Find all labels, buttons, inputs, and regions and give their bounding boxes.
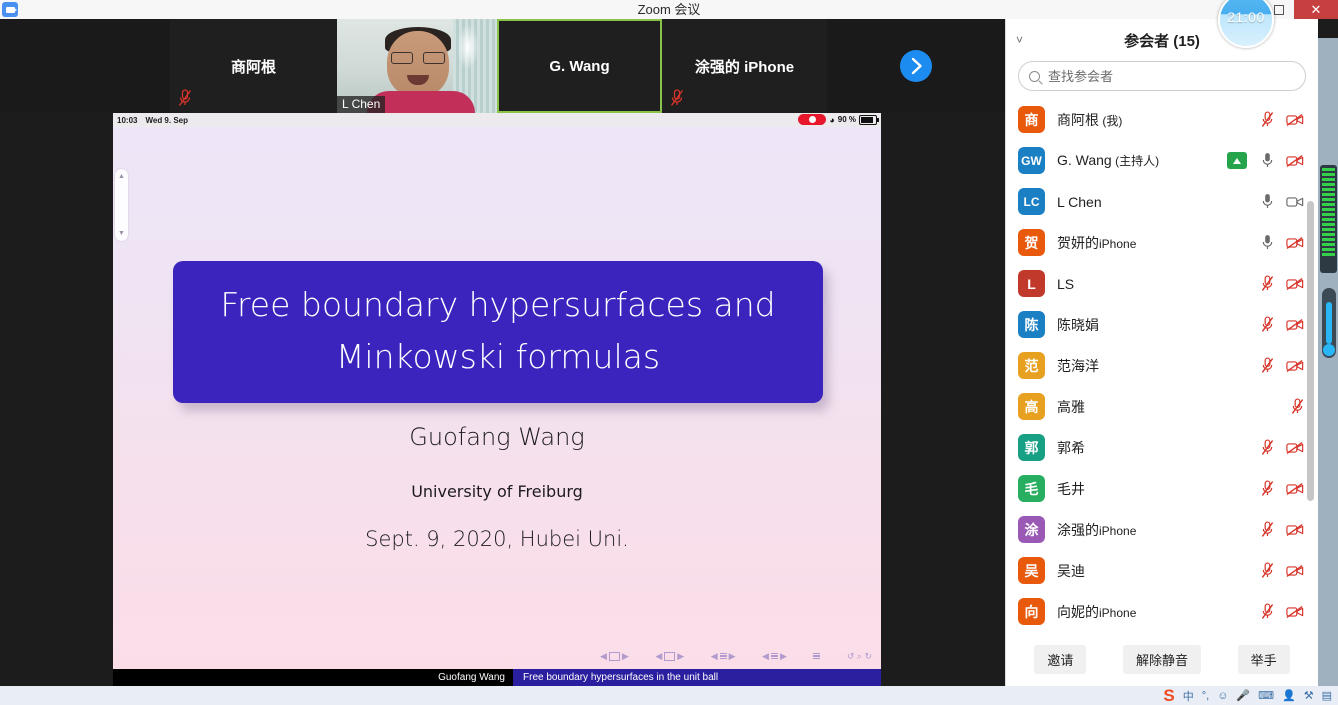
participant-name-suffix: (主持人) (1112, 154, 1159, 168)
beamer-footer-title: Free boundary hypersurfaces in the unit … (513, 669, 881, 686)
mic-on-icon[interactable] (1261, 152, 1274, 169)
avatar: 陈 (1018, 311, 1045, 338)
clock-time: 21:00 (1227, 9, 1265, 25)
participant-status-icons (1227, 152, 1304, 169)
window-titlebar: Zoom 会议 ✕ (0, 0, 1338, 20)
ipad-clock: 10:03 (117, 116, 137, 125)
presentation-slide: ▲ ▼ Free boundary hypersurfaces and Mink… (113, 127, 881, 686)
search-input[interactable] (1046, 68, 1295, 85)
participant-name-main: L Chen (1057, 194, 1102, 210)
participant-row[interactable]: GWG. Wang (主持人) (1006, 140, 1318, 181)
participant-name-main: 贺妍的 (1057, 235, 1099, 251)
slide-title-line-1: Free boundary hypersurfaces and (183, 279, 813, 331)
zoom-meeting-window: 商阿根 L Chen G. Wang (0, 19, 1338, 686)
participant-name: 范海洋 (1057, 356, 1261, 376)
mic-off-icon[interactable] (1261, 480, 1274, 497)
participants-search-box[interactable] (1018, 61, 1306, 91)
participant-name-main: 高雅 (1057, 399, 1085, 415)
shared-screen-content: 10:03 Wed 9. Sep ◕ 90 % ▲ ▼ Free boundar… (113, 113, 881, 686)
camera-off-icon[interactable] (1286, 318, 1304, 332)
search-icon (1029, 71, 1040, 82)
mic-off-icon[interactable] (1261, 521, 1274, 538)
scroll-down-arrow[interactable]: ▼ (118, 230, 125, 237)
participant-status-icons (1261, 193, 1304, 210)
cpu-meter-gadget-icon (1320, 165, 1337, 273)
scroll-up-arrow[interactable]: ▲ (118, 173, 125, 180)
participant-status-icons (1261, 234, 1304, 251)
unmute-button[interactable]: 解除静音 (1123, 645, 1201, 674)
next-page-arrow-icon[interactable] (899, 49, 933, 83)
soft-keyboard-icon[interactable]: ⌨ (1258, 689, 1274, 702)
participant-name: 毛井 (1057, 479, 1261, 499)
chevron-down-icon[interactable]: ˅ (1016, 33, 1023, 47)
participants-panel-title: 参会者 (15) (1006, 30, 1318, 51)
avatar: LC (1018, 188, 1045, 215)
filmstrip-next-area (827, 19, 1005, 113)
participant-name-main: 吴迪 (1057, 563, 1085, 579)
participant-name: 郭希 (1057, 438, 1261, 458)
battery-icon (859, 115, 877, 125)
avatar: L (1018, 270, 1045, 297)
screen-root: Zoom 会议 ✕ 21:00 商阿根 (0, 0, 1338, 705)
video-tile-label: G. Wang (549, 58, 609, 75)
video-tile-label: L Chen (337, 96, 385, 113)
video-feed: L Chen (337, 19, 497, 113)
participants-scrollbar[interactable] (1307, 101, 1314, 646)
camera-off-icon[interactable] (1286, 359, 1304, 373)
participant-name-main: 商阿根 (1057, 112, 1099, 128)
participant-status-icons (1261, 275, 1304, 292)
camera-on-icon[interactable] (1286, 195, 1304, 209)
avatar: 郭 (1018, 434, 1045, 461)
user-icon[interactable]: 👤 (1282, 689, 1296, 702)
camera-off-icon[interactable] (1286, 564, 1304, 578)
filmstrip-spacer (0, 19, 170, 113)
mic-off-icon[interactable] (1261, 562, 1274, 579)
participant-status-icons (1261, 316, 1304, 333)
participants-panel-footer: 邀请 解除静音 举手 (1006, 632, 1318, 686)
mic-off-icon[interactable] (1261, 111, 1274, 128)
camera-off-icon[interactable] (1286, 441, 1304, 455)
slide-author: Guofang Wang (113, 423, 881, 451)
camera-off-icon[interactable] (1286, 482, 1304, 496)
participant-name: 高雅 (1057, 397, 1291, 417)
ipad-status-right: ◕ 90 % (798, 114, 877, 125)
camera-off-icon[interactable] (1286, 605, 1304, 619)
avatar: 范 (1018, 352, 1045, 379)
punctuation-icon[interactable]: °, (1202, 690, 1209, 702)
nav-frame-group[interactable]: ◀▶ (655, 651, 684, 662)
ipad-date: Wed 9. Sep (145, 116, 188, 125)
avatar: 高 (1018, 393, 1045, 420)
video-tile-tuqiang-iphone[interactable]: 涂强的 iPhone (662, 19, 827, 113)
avatar: 商 (1018, 106, 1045, 133)
participant-status-icons (1261, 357, 1304, 374)
mic-off-icon[interactable] (1261, 357, 1274, 374)
close-button[interactable]: ✕ (1294, 0, 1338, 19)
mic-on-icon[interactable] (1261, 234, 1274, 251)
participant-name: 陈晓娟 (1057, 315, 1261, 335)
host-badge-icon (1227, 152, 1247, 169)
wifi-icon: ◕ (829, 115, 834, 125)
slide-date: Sept. 9, 2020, Hubei Uni. (113, 527, 881, 551)
participant-name-main: G. Wang (1057, 152, 1112, 168)
participant-name-suffix: iPhone (1099, 606, 1136, 620)
participant-status-icons (1261, 480, 1304, 497)
nav-section-group[interactable]: ◀▶ (762, 651, 787, 662)
participants-panel: ˅ 参会者 (15) 商商阿根 (我)GWG. Wang (主持人)LCL Ch… (1005, 19, 1318, 686)
temperature-gadget-icon (1322, 288, 1336, 358)
video-filmstrip: 商阿根 L Chen G. Wang (0, 19, 1005, 113)
participant-row[interactable]: 郭郭希 (1006, 427, 1318, 468)
mic-off-icon[interactable] (1261, 275, 1274, 292)
participants-list[interactable]: 商商阿根 (我)GWG. Wang (主持人)LCL Chen贺贺妍的iPhon… (1006, 99, 1318, 632)
emoji-icon[interactable]: ☺ (1217, 690, 1228, 702)
video-tile-lchen[interactable]: L Chen (337, 19, 497, 113)
camera-off-icon[interactable] (1286, 113, 1304, 127)
participant-name: G. Wang (主持人) (1057, 152, 1227, 169)
participant-status-icons (1261, 603, 1304, 620)
beamer-footer: Guofang Wang Free boundary hypersurfaces… (113, 669, 881, 686)
participant-name-suffix: (我) (1099, 114, 1122, 128)
mic-off-icon[interactable] (1261, 439, 1274, 456)
sogou-ime-logo[interactable]: S (1163, 687, 1174, 704)
participant-name-main: 涂强的 (1057, 522, 1099, 538)
nav-back-forward-group[interactable]: ↺ ⌕ ↻ (847, 651, 872, 662)
participant-name: 商阿根 (我) (1057, 110, 1261, 130)
slide-title-line-2: Minkowski formulas (183, 331, 813, 383)
avatar: 吴 (1018, 557, 1045, 584)
participant-name: 涂强的iPhone (1057, 520, 1261, 540)
participant-name: 贺妍的iPhone (1057, 233, 1261, 253)
participant-row[interactable]: 高高雅 (1006, 386, 1318, 427)
panel-icon[interactable]: ▤ (1322, 689, 1332, 702)
raise-hand-button[interactable]: 举手 (1238, 645, 1290, 674)
participant-name: L Chen (1057, 194, 1261, 210)
sogou-ime-toolbar[interactable]: S 中 °, ☺ 🎤 ⌨ 👤 ⚒ ▤ (1159, 686, 1336, 705)
slide-vertical-scrollbar[interactable]: ▲ ▼ (115, 169, 128, 241)
participant-row[interactable]: LCL Chen (1006, 181, 1318, 222)
avatar: 贺 (1018, 229, 1045, 256)
camera-off-icon[interactable] (1286, 236, 1304, 250)
battery-percent: 90 % (838, 115, 856, 124)
participant-row[interactable]: 向向妮的iPhone (1006, 591, 1318, 632)
camera-off-icon[interactable] (1286, 154, 1304, 168)
mic-off-icon[interactable] (1261, 603, 1274, 620)
participant-name-main: LS (1057, 276, 1074, 292)
avatar: 毛 (1018, 475, 1045, 502)
desktop-sidebar-gadget (1318, 38, 1338, 705)
camera-off-icon[interactable] (1286, 277, 1304, 291)
slide-title-box: Free boundary hypersurfaces and Minkowsk… (173, 261, 823, 403)
window-title: Zoom 会议 (0, 0, 1338, 19)
participant-row[interactable]: LLS (1006, 263, 1318, 304)
taskbar: S 中 °, ☺ 🎤 ⌨ 👤 ⚒ ▤ (0, 686, 1338, 705)
nav-subsection-group[interactable]: ◀▶ (711, 651, 736, 662)
slide-affiliation: University of Freiburg (113, 482, 881, 501)
participant-status-icons (1261, 111, 1304, 128)
mic-on-icon[interactable] (1261, 193, 1274, 210)
participant-name: 向妮的iPhone (1057, 602, 1261, 622)
video-tile-gwang[interactable]: G. Wang (497, 19, 662, 113)
avatar: GW (1018, 147, 1045, 174)
video-tile-label: 涂强的 iPhone (695, 56, 794, 77)
beamer-footer-author: Guofang Wang (113, 669, 513, 686)
toolbox-icon[interactable]: ⚒ (1304, 689, 1314, 702)
beamer-navigation-bar[interactable]: ◀▶ ◀▶ ◀▶ ◀▶ ↺ ⌕ ↻ (600, 648, 872, 664)
participant-row[interactable]: 毛毛井 (1006, 468, 1318, 509)
invite-button[interactable]: 邀请 (1034, 645, 1086, 674)
participant-row[interactable]: 陈陈晓娟 (1006, 304, 1318, 345)
participant-name-main: 范海洋 (1057, 358, 1099, 374)
participant-status-icons (1261, 521, 1304, 538)
recording-indicator-icon (798, 114, 826, 125)
participant-status-icons (1261, 562, 1304, 579)
participant-name-main: 郭希 (1057, 440, 1085, 456)
participant-name: 吴迪 (1057, 561, 1261, 581)
participants-search-wrap (1006, 61, 1318, 99)
participant-name: LS (1057, 276, 1261, 292)
mic-off-icon (670, 89, 684, 107)
participant-row[interactable]: 吴吴迪 (1006, 550, 1318, 591)
ipad-status-bar: 10:03 Wed 9. Sep ◕ 90 % (113, 113, 881, 127)
participant-row[interactable]: 范范海洋 (1006, 345, 1318, 386)
video-tile-label: 商阿根 (231, 56, 276, 77)
participant-name-suffix: iPhone (1099, 237, 1136, 251)
mic-off-icon[interactable] (1291, 398, 1304, 415)
avatar: 涂 (1018, 516, 1045, 543)
participant-name-main: 毛井 (1057, 481, 1085, 497)
participant-name-main: 陈晓娟 (1057, 317, 1099, 333)
participant-status-icons (1261, 439, 1304, 456)
participant-row[interactable]: 涂涂强的iPhone (1006, 509, 1318, 550)
chinese-mode-icon[interactable]: 中 (1183, 688, 1194, 704)
participant-row[interactable]: 商商阿根 (我) (1006, 99, 1318, 140)
avatar: 向 (1018, 598, 1045, 625)
camera-off-icon[interactable] (1286, 523, 1304, 537)
nav-slide-group[interactable]: ◀▶ (600, 651, 629, 662)
nav-toc-group[interactable] (813, 653, 820, 660)
video-tile-shang[interactable]: 商阿根 (170, 19, 337, 113)
mic-off-icon[interactable] (1261, 316, 1274, 333)
participant-status-icons (1291, 398, 1304, 415)
participant-row[interactable]: 贺贺妍的iPhone (1006, 222, 1318, 263)
mic-off-icon (178, 89, 192, 107)
voice-input-icon[interactable]: 🎤 (1236, 689, 1250, 702)
participant-name-main: 向妮的 (1057, 604, 1099, 620)
participant-name-suffix: iPhone (1099, 524, 1136, 538)
